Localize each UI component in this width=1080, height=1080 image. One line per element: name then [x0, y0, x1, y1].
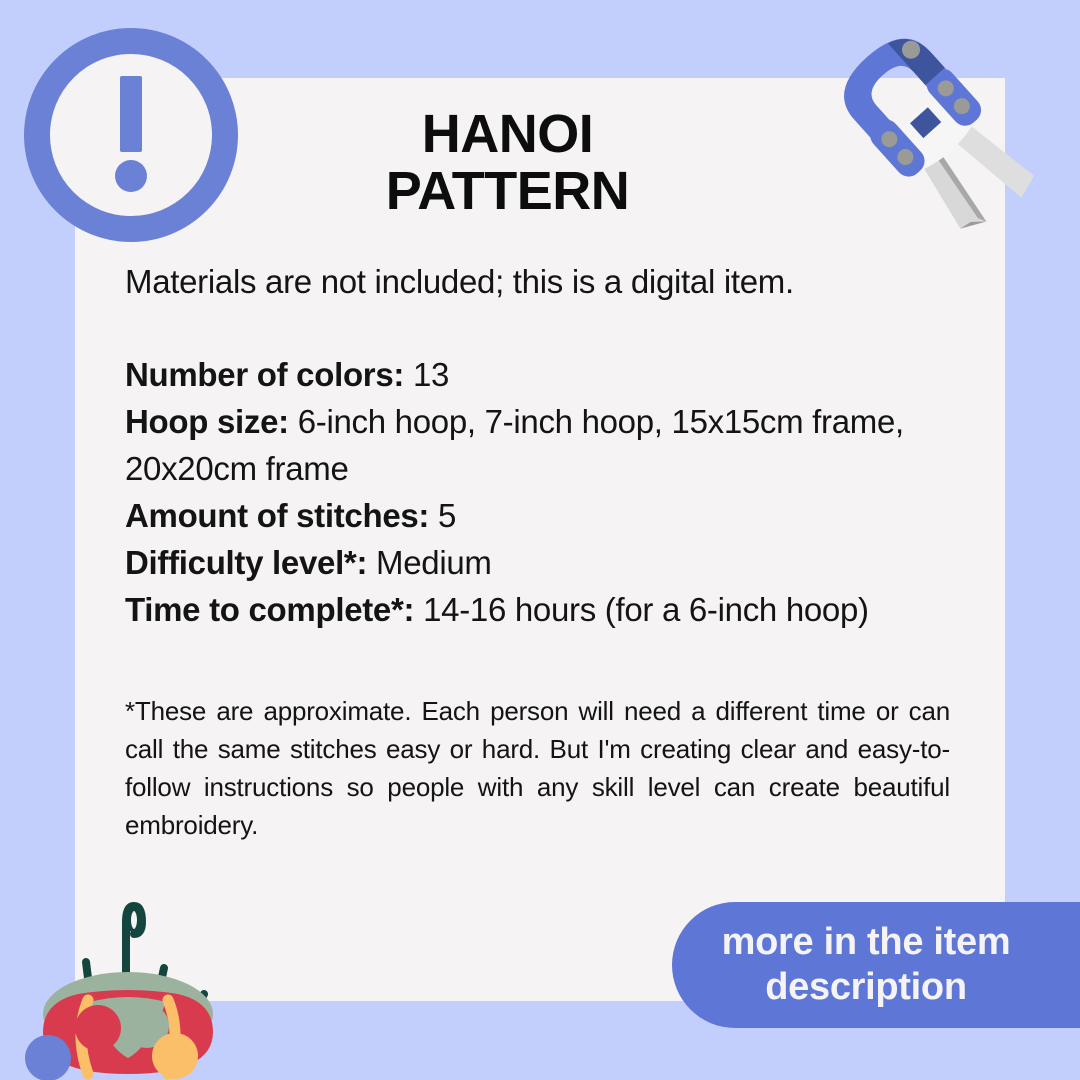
- spec-item-stitches: Amount of stitches: 5: [125, 493, 950, 540]
- spec-value-difficulty: Medium: [376, 544, 492, 581]
- spec-item-time: Time to complete*: 14-16 hours (for a 6-…: [125, 587, 950, 634]
- more-in-item-description-badge[interactable]: more in the item description: [672, 902, 1080, 1028]
- spec-label-difficulty: Difficulty level*:: [125, 544, 367, 581]
- footnote-text: *These are approximate. Each person will…: [125, 692, 950, 845]
- spec-item-difficulty: Difficulty level*: Medium: [125, 540, 950, 587]
- spec-label-hoop-size: Hoop size:: [125, 403, 289, 440]
- pincushion-icon: [18, 862, 238, 1080]
- badge-label: more in the item description: [722, 920, 1053, 1010]
- spec-item-hoop-size: Hoop size: 6-inch hoop, 7-inch hoop, 15x…: [125, 399, 950, 493]
- intro-text: Materials are not included; this is a di…: [125, 260, 950, 304]
- spec-item-colors: Number of colors: 13: [125, 352, 950, 399]
- spec-label-colors: Number of colors:: [125, 356, 404, 393]
- exclamation-circle-icon: [24, 28, 238, 242]
- badge-line-2: description: [722, 965, 1011, 1010]
- spec-value-colors: 13: [413, 356, 449, 393]
- spec-label-time: Time to complete*:: [125, 591, 414, 628]
- spec-list: Number of colors: 13 Hoop size: 6-inch h…: [125, 352, 950, 633]
- badge-line-1: more in the item: [722, 920, 1011, 965]
- thread-snips-icon: [818, 22, 1068, 262]
- spec-value-time: 14-16 hours (for a 6-inch hoop): [423, 591, 869, 628]
- spec-value-stitches: 5: [438, 497, 456, 534]
- spec-label-stitches: Amount of stitches:: [125, 497, 429, 534]
